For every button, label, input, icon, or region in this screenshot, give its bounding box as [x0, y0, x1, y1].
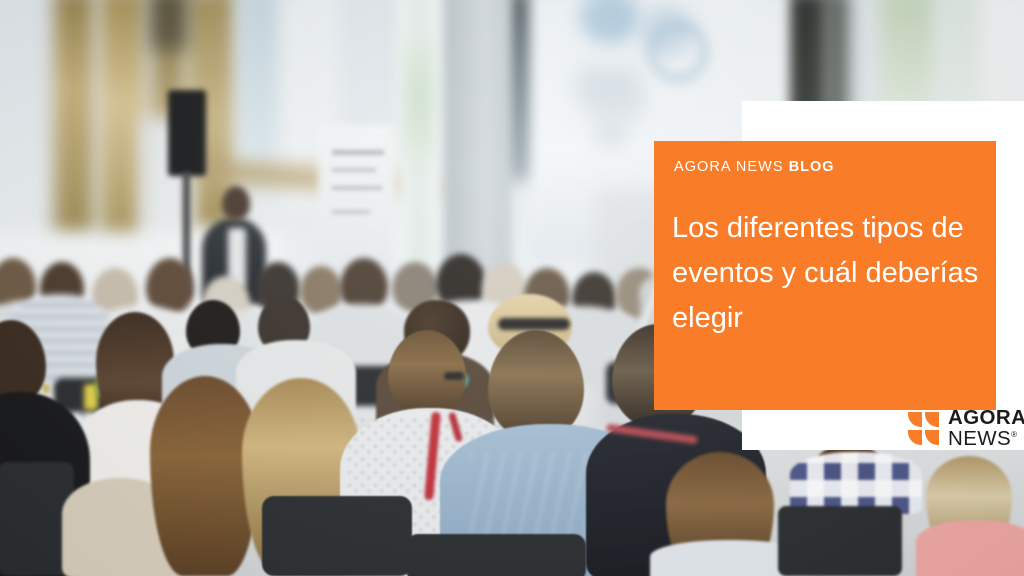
logo-quadrant-4	[925, 430, 939, 445]
agora-news-logo[interactable]: AGORA NEWS®	[908, 408, 1024, 449]
logo-quadrant-3	[908, 430, 922, 445]
logo-line-agora: AGORA	[948, 408, 1024, 429]
agora-quadrant-mark-icon	[908, 412, 939, 445]
logo-quadrant-1	[908, 412, 922, 427]
kicker-section-text: BLOG	[789, 159, 835, 175]
cover-image-canvas: AGORA NEWS BLOG Los diferentes tipos de …	[0, 0, 1024, 576]
logo-line-news: NEWS®	[948, 429, 1024, 450]
logo-news-text: NEWS	[948, 427, 1011, 450]
blog-kicker: AGORA NEWS BLOG	[674, 159, 835, 175]
article-headline: Los diferentes tipos de eventos y cuál d…	[672, 206, 984, 341]
logo-quadrant-2	[925, 412, 939, 427]
logo-wordmark: AGORA NEWS®	[948, 408, 1024, 449]
logo-trademark-symbol: ®	[1011, 430, 1017, 439]
headline-text: Los diferentes tipos de eventos y cuál d…	[672, 212, 978, 334]
kicker-brand-text: AGORA NEWS	[674, 159, 789, 175]
